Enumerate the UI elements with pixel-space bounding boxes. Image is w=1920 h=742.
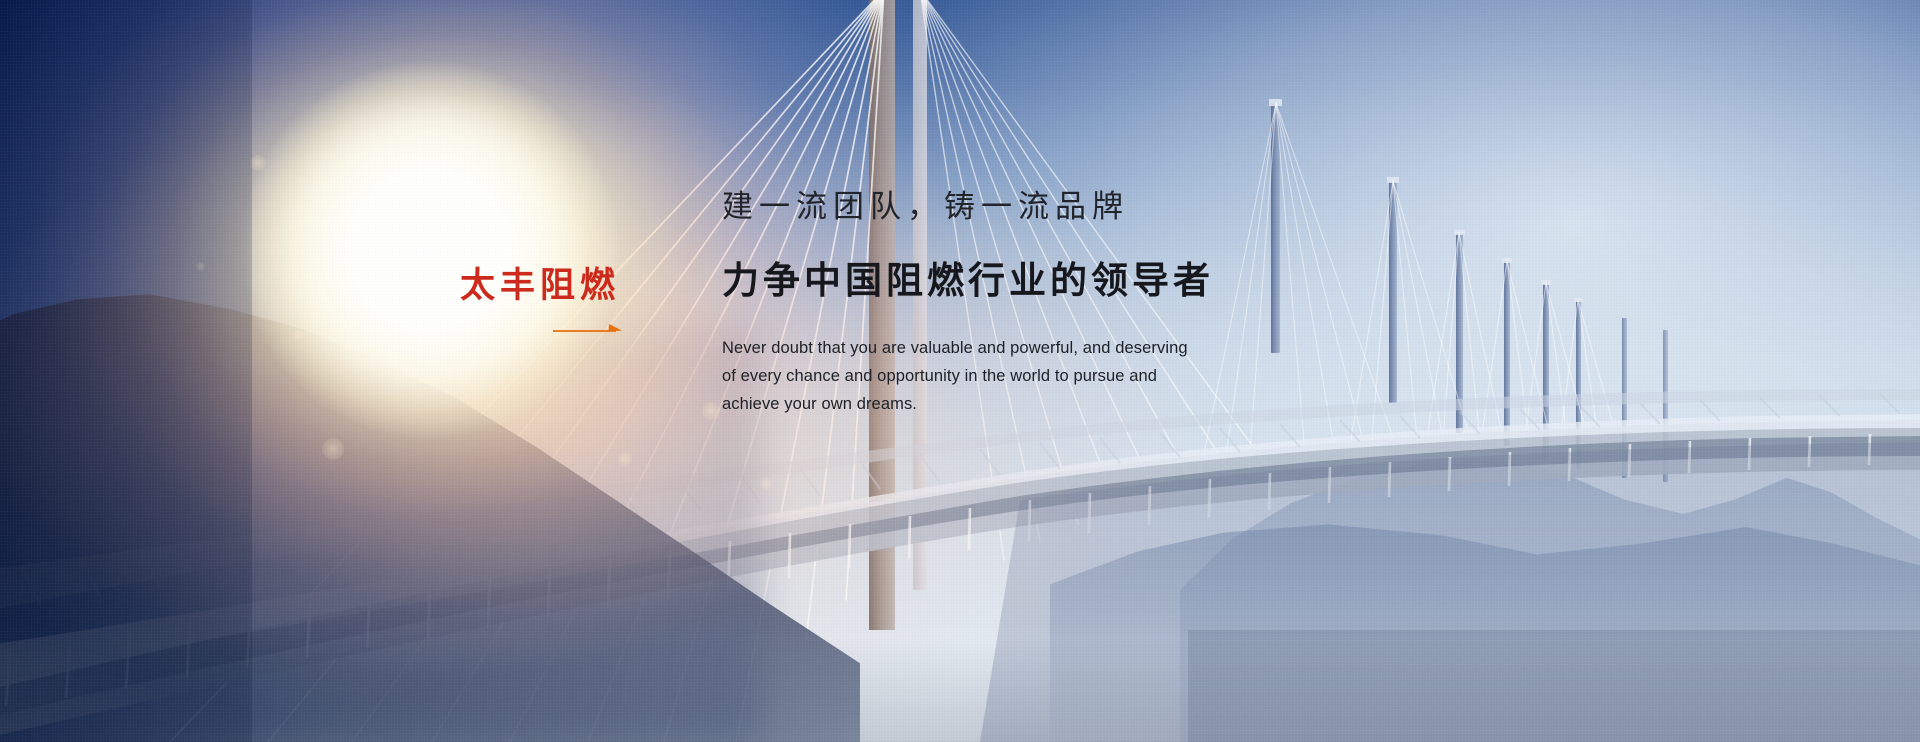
- banner-headline: 力争中国阻燃行业的领导者: [722, 258, 1342, 304]
- banner-subtitle: 建一流团队，铸一流品牌: [722, 186, 1342, 228]
- banner-description: Never doubt that you are valuable and po…: [722, 334, 1282, 418]
- banner-text-block: 建一流团队，铸一流品牌 力争中国阻燃行业的领导者 Never doubt tha…: [722, 186, 1342, 418]
- description-line: Never doubt that you are valuable and po…: [722, 334, 1282, 362]
- description-line: achieve your own dreams.: [722, 390, 1282, 418]
- brand-logo-text: 太丰阻燃: [460, 268, 640, 305]
- description-line: of every chance and opportunity in the w…: [722, 362, 1282, 390]
- brand-logo[interactable]: 太丰阻燃: [460, 268, 640, 334]
- arrow-right-icon: [552, 322, 624, 334]
- hero-banner: 太丰阻燃 建一流团队，铸一流品牌 力争中国阻燃行业的领导者 Never doub…: [0, 0, 1920, 742]
- banner-content: 太丰阻燃 建一流团队，铸一流品牌 力争中国阻燃行业的领导者 Never doub…: [0, 0, 1920, 742]
